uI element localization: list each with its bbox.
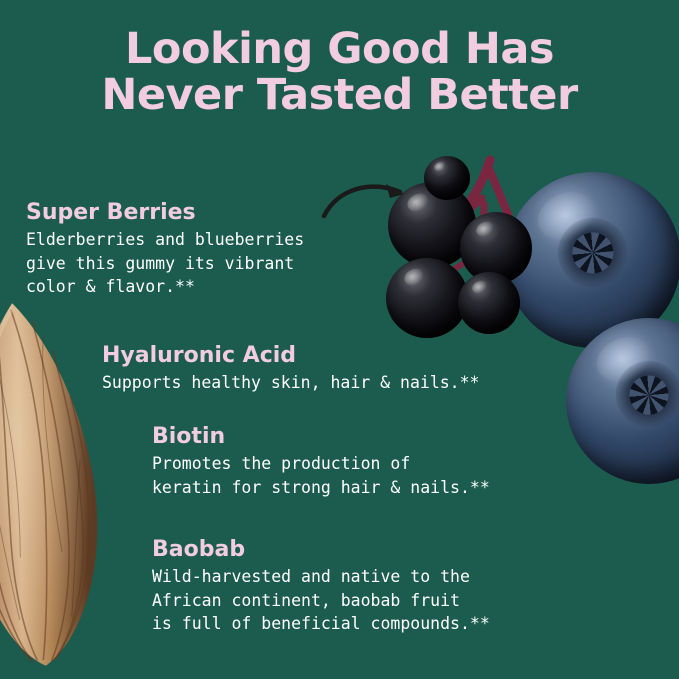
- benefit-line: Supports healthy skin, hair & nails.**: [102, 371, 480, 394]
- benefit-body-baobab: Wild-harvested and native to the African…: [152, 565, 490, 635]
- page-title: Looking Good Has Never Tasted Better: [0, 26, 679, 118]
- benefit-body-hyaluronic-acid: Supports healthy skin, hair & nails.**: [102, 371, 480, 394]
- blueberry-crown: [616, 361, 679, 427]
- benefit-line: African continent, baobab fruit: [152, 589, 490, 612]
- benefit-line: keratin for strong hair & nails.**: [152, 476, 490, 499]
- benefit-block-hyaluronic-acid: Hyaluronic Acid Supports healthy skin, h…: [102, 343, 480, 395]
- elderberry: [458, 272, 520, 334]
- benefit-body-biotin: Promotes the production of keratin for s…: [152, 452, 490, 499]
- benefit-block-baobab: Baobab Wild-harvested and native to the …: [152, 537, 490, 636]
- headline-line-2: Never Tasted Better: [0, 72, 679, 118]
- benefit-title-baobab: Baobab: [152, 537, 490, 562]
- benefit-line: color & flavor.**: [26, 275, 304, 298]
- benefit-line: Elderberries and blueberries: [26, 228, 304, 251]
- benefit-title-hyaluronic-acid: Hyaluronic Acid: [102, 343, 480, 368]
- benefit-title-super-berries: Super Berries: [26, 200, 304, 225]
- benefit-block-biotin: Biotin Promotes the production of kerati…: [152, 424, 490, 499]
- benefit-block-super-berries: Super Berries Elderberries and blueberri…: [26, 200, 304, 299]
- benefit-line: Wild-harvested and native to the: [152, 565, 490, 588]
- elderberry: [424, 156, 470, 200]
- benefit-line: give this gummy its vibrant: [26, 252, 304, 275]
- benefit-title-biotin: Biotin: [152, 424, 490, 449]
- elderberry: [386, 258, 468, 338]
- benefit-line: is full of beneficial compounds.**: [152, 612, 490, 635]
- headline-line-1: Looking Good Has: [0, 26, 679, 72]
- benefit-line: Promotes the production of: [152, 452, 490, 475]
- curved-arrow-icon: [320, 178, 416, 226]
- benefit-body-super-berries: Elderberries and blueberries give this g…: [26, 228, 304, 298]
- product-benefits-poster: Looking Good Has Never Tasted Better Sup…: [0, 0, 679, 679]
